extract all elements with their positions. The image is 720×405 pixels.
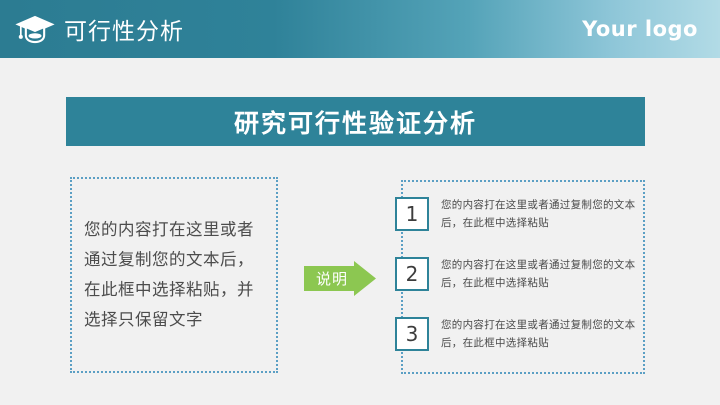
list-item-number: 2: [395, 257, 429, 291]
left-content-text: 您的内容打在这里或者通过复制您的文本后，在此框中选择粘贴，并选择只保留文字: [84, 215, 264, 335]
list-item-number: 1: [395, 197, 429, 231]
explanation-arrow-label: 说明: [304, 261, 360, 296]
header-title: 可行性分析: [64, 12, 184, 46]
section-title-banner: 研究可行性验证分析: [66, 97, 645, 146]
list-item-number: 3: [395, 317, 429, 351]
graduation-cap-icon: [14, 12, 56, 46]
explanation-arrow: 说明: [304, 261, 376, 296]
list-item-text: 您的内容打在这里或者通过复制您的文本后，在此框中选择粘贴: [441, 256, 641, 292]
left-content-panel: 您的内容打在这里或者通过复制您的文本后，在此框中选择粘贴，并选择只保留文字: [70, 177, 278, 373]
list-item: 1 您的内容打在这里或者通过复制您的文本后，在此框中选择粘贴: [395, 196, 645, 238]
list-item-text: 您的内容打在这里或者通过复制您的文本后，在此框中选择粘贴: [441, 316, 641, 352]
page-header: 可行性分析 Your logo: [0, 0, 720, 58]
logo-text: Your logo: [582, 17, 698, 41]
list-item: 2 您的内容打在这里或者通过复制您的文本后，在此框中选择粘贴: [395, 256, 645, 298]
list-item-text: 您的内容打在这里或者通过复制您的文本后，在此框中选择粘贴: [441, 196, 641, 232]
section-title-text: 研究可行性验证分析: [234, 104, 477, 140]
list-item: 3 您的内容打在这里或者通过复制您的文本后，在此框中选择粘贴: [395, 316, 645, 358]
